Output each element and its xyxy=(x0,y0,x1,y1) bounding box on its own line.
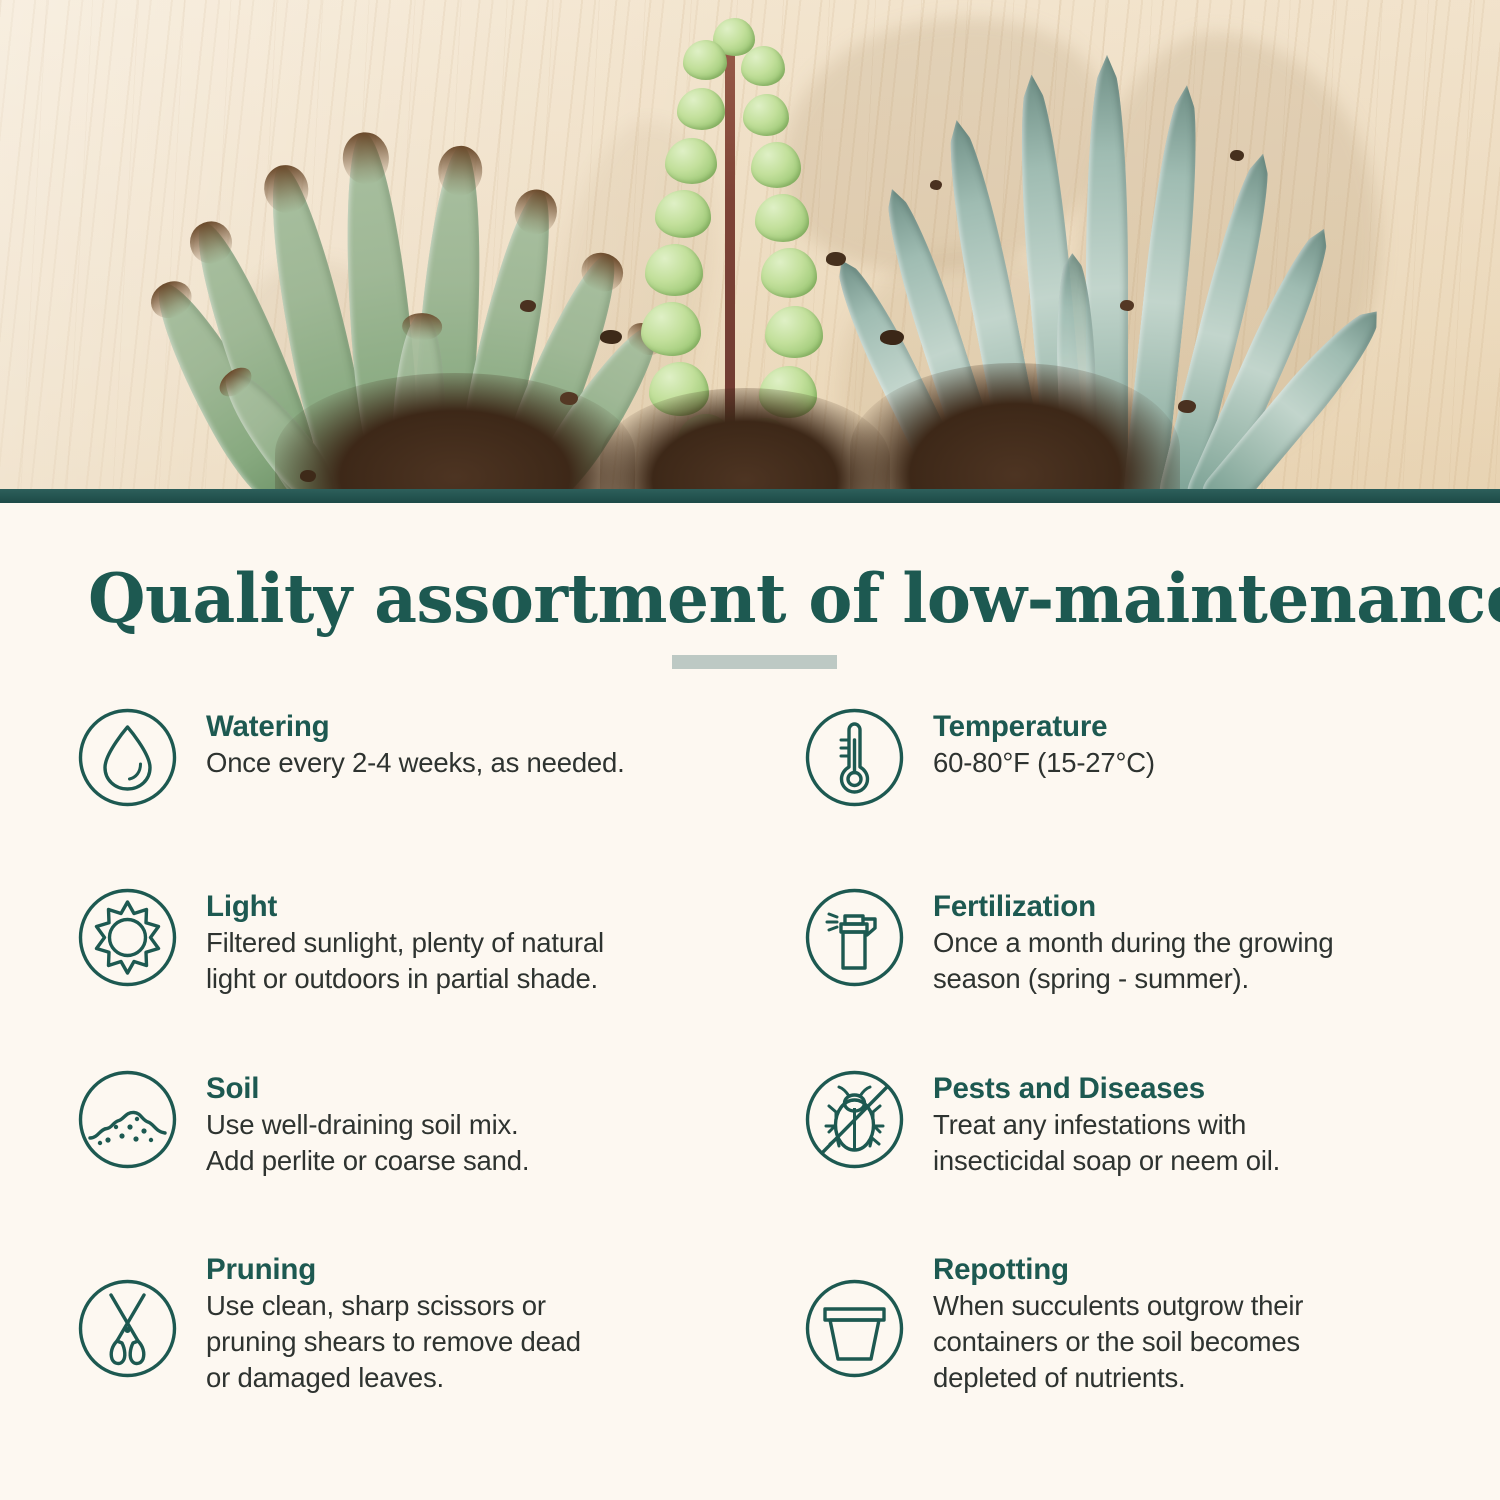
no-bug-icon xyxy=(805,1070,904,1169)
care-column-left: Watering Once every 2-4 weeks, as needed… xyxy=(78,708,805,1441)
care-item-title: Temperature xyxy=(933,710,1155,743)
care-item-body: Once a month during the growing season (… xyxy=(933,925,1333,997)
flower-pot-icon xyxy=(805,1279,904,1378)
care-item-text: Pruning Use clean, sharp scissors or pru… xyxy=(177,1251,581,1395)
hero-photo xyxy=(0,0,1500,503)
care-item-repotting: Repotting When succulents outgrow their … xyxy=(805,1251,1500,1441)
soil-crumb xyxy=(1230,150,1244,161)
care-item-text: Soil Use well-draining soil mix. Add per… xyxy=(177,1070,529,1179)
water-drop-icon xyxy=(78,708,177,807)
spray-bottle-icon xyxy=(805,888,904,987)
soil-crumb xyxy=(300,470,316,482)
care-item-text: Repotting When succulents outgrow their … xyxy=(904,1251,1303,1395)
care-item-title: Soil xyxy=(206,1072,529,1105)
care-item-title: Repotting xyxy=(933,1253,1303,1286)
care-item-body: Use clean, sharp scissors or pruning she… xyxy=(206,1288,581,1395)
care-item-body: 60-80°F (15-27°C) xyxy=(933,745,1155,781)
soil-crumb xyxy=(930,180,942,190)
care-item-body: When succulents outgrow their containers… xyxy=(933,1288,1303,1395)
pruning-shears-icon xyxy=(78,1279,177,1378)
care-item-temperature: Temperature 60-80°F (15-27°C) xyxy=(805,708,1500,888)
care-item-text: Fertilization Once a month during the gr… xyxy=(904,888,1333,997)
care-item-body: Treat any infestations with insecticidal… xyxy=(933,1107,1280,1179)
thermometer-icon xyxy=(805,708,904,807)
soil-crumb xyxy=(600,330,622,344)
care-item-title: Light xyxy=(206,890,604,923)
care-item-text: Watering Once every 2-4 weeks, as needed… xyxy=(177,708,625,781)
teal-divider-bar xyxy=(0,489,1500,503)
soil-crumb xyxy=(1120,300,1134,311)
care-item-body: Use well-draining soil mix. Add perlite … xyxy=(206,1107,529,1179)
care-item-text: Light Filtered sunlight, plenty of natur… xyxy=(177,888,604,997)
page-title: Quality assortment of low-maintenance xyxy=(88,565,1408,632)
care-item-pests: Pests and Diseases Treat any infestation… xyxy=(805,1070,1500,1251)
title-accent-bar xyxy=(672,655,837,669)
care-item-text: Temperature 60-80°F (15-27°C) xyxy=(904,708,1155,781)
care-item-pruning: Pruning Use clean, sharp scissors or pru… xyxy=(78,1251,805,1441)
care-item-title: Watering xyxy=(206,710,625,743)
care-guide-panel: Quality assortment of low-maintenance Wa… xyxy=(0,503,1500,1500)
soil-crumb xyxy=(520,300,536,312)
care-grid: Watering Once every 2-4 weeks, as needed… xyxy=(0,708,1500,1441)
care-item-fertilization: Fertilization Once a month during the gr… xyxy=(805,888,1500,1070)
care-item-body: Filtered sunlight, plenty of natural lig… xyxy=(206,925,604,997)
sun-icon xyxy=(78,888,177,987)
care-item-light: Light Filtered sunlight, plenty of natur… xyxy=(78,888,805,1070)
care-item-watering: Watering Once every 2-4 weeks, as needed… xyxy=(78,708,805,888)
care-column-right: Temperature 60-80°F (15-27°C) xyxy=(805,708,1500,1441)
soil-crumb xyxy=(826,252,846,266)
soil-crumb xyxy=(1178,400,1196,413)
soil-crumb xyxy=(560,392,578,405)
care-item-title: Pests and Diseases xyxy=(933,1072,1280,1105)
care-item-title: Pruning xyxy=(206,1253,581,1286)
soil-mound-icon xyxy=(78,1070,177,1169)
soil-crumb xyxy=(880,330,904,345)
care-item-title: Fertilization xyxy=(933,890,1333,923)
care-item-soil: Soil Use well-draining soil mix. Add per… xyxy=(78,1070,805,1251)
care-item-text: Pests and Diseases Treat any infestation… xyxy=(904,1070,1280,1179)
care-item-body: Once every 2-4 weeks, as needed. xyxy=(206,745,625,781)
